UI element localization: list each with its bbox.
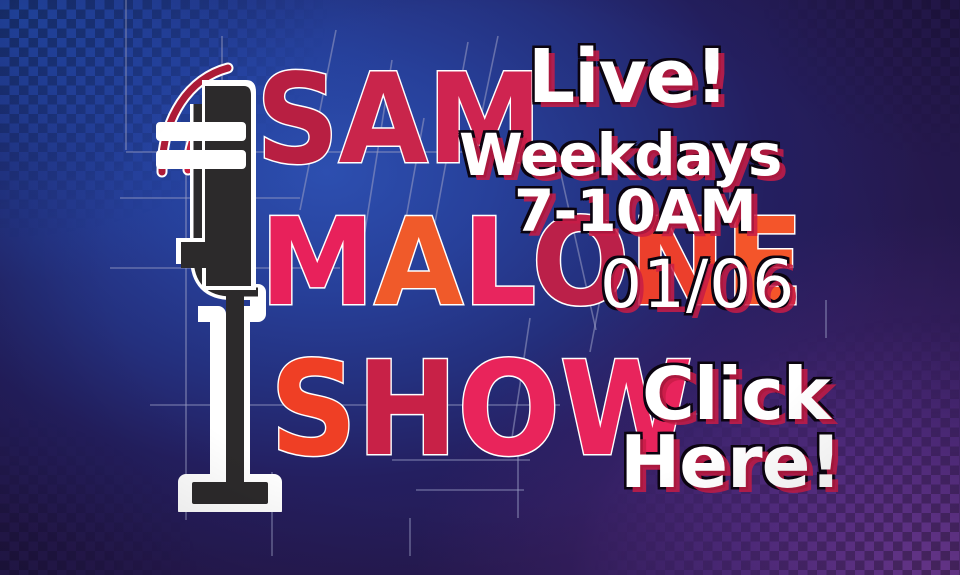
promo-banner[interactable]: SAM MALONE SHOW Live! Weekdays 7-10AM 01…: [0, 0, 960, 575]
vignette-overlay: [0, 0, 960, 575]
